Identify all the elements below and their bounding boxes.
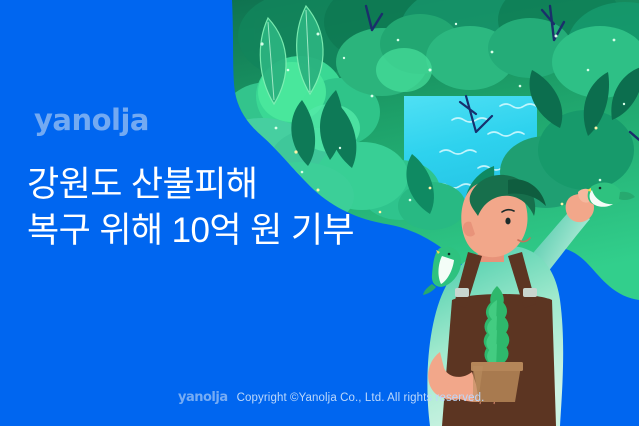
copyright-text: Copyright ©Yanolja Co., Ltd. All rights … xyxy=(237,392,485,404)
headline: 강원도 산불피해 복구 위해 10억 원 기부 xyxy=(27,162,354,254)
footer: yanolja Copyright ©Yanolja Co., Ltd. All… xyxy=(178,390,484,405)
footer-yanolja-logo: yanolja xyxy=(178,390,228,405)
promo-poster: yanolja 강원도 산불피해 복구 위해 10억 원 기부 yanolja … xyxy=(0,0,639,426)
yanolja-logo: yanolja xyxy=(34,103,149,137)
headline-line-2: 복구 위해 10억 원 기부 xyxy=(27,208,354,254)
headline-line-1: 강원도 산불피해 xyxy=(27,162,354,208)
